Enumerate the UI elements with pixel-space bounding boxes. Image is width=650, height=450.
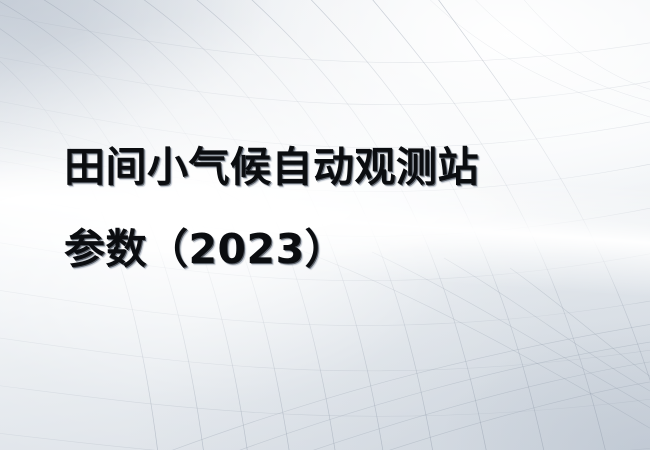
page-title: 田间小气候自动观测站 参数（2023）: [64, 126, 604, 290]
title-line-1: 田间小气候自动观测站: [64, 126, 604, 208]
title-line-2: 参数（2023）: [64, 208, 604, 290]
title-slide-card: 田间小气候自动观测站 参数（2023）: [0, 0, 650, 450]
